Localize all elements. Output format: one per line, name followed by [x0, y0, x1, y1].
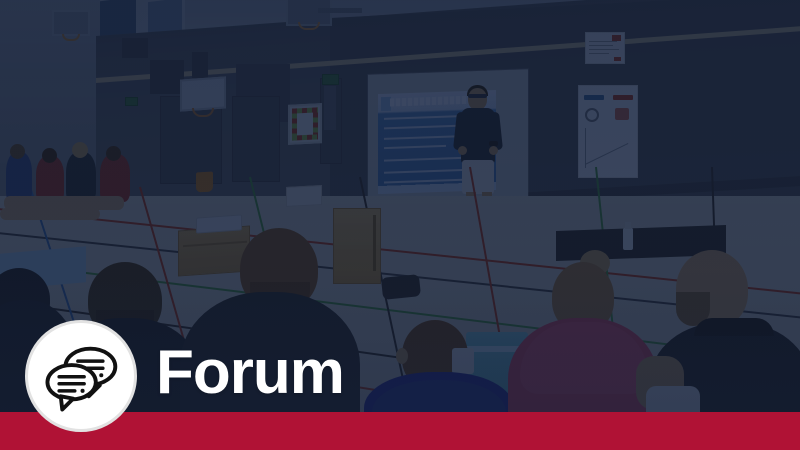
page-title: Forum	[156, 342, 344, 404]
forum-badge[interactable]	[25, 320, 137, 432]
forum-banner[interactable]: Forum	[0, 0, 800, 450]
speech-bubbles-icon	[42, 337, 120, 415]
accent-bar	[0, 412, 800, 450]
